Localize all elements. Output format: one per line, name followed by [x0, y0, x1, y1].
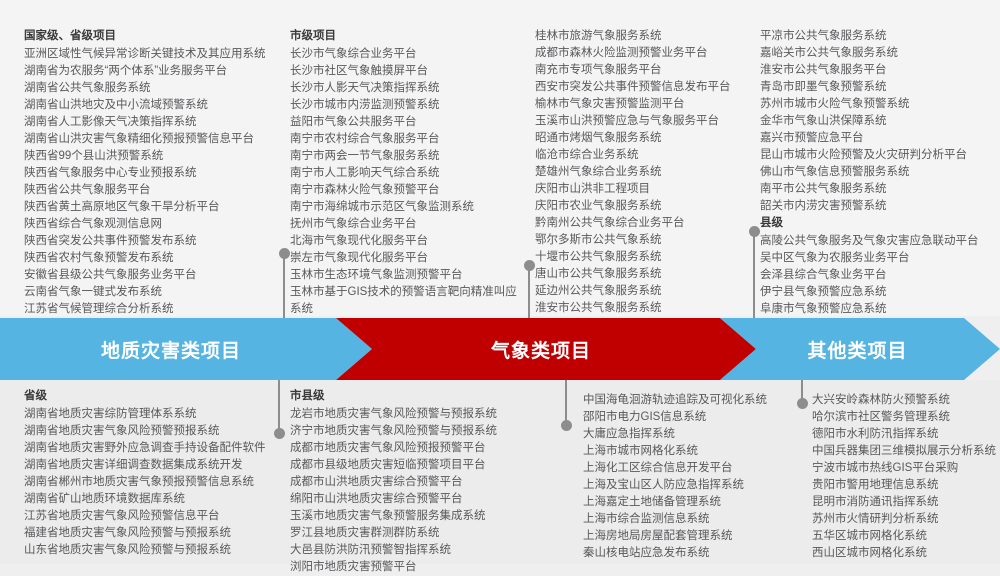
banner-segment-other[interactable]: 其他类项目	[720, 318, 1000, 380]
connector-line-top-4	[753, 230, 755, 318]
list-item: 成都市县级地质灾害短临预警项目平台	[290, 457, 555, 474]
list-item: 长沙市社区气象触摸屏平台	[290, 63, 525, 80]
list-item: 上海化工区综合信息开发平台	[583, 460, 798, 477]
connector-line-top-2	[283, 252, 285, 318]
top-column-2: 市级项目 长沙市气象综合业务平台 长沙市社区气象触摸屏平台 长沙市人影天气决策指…	[290, 28, 525, 335]
list-item: 南宁市两会一节气象服务系统	[290, 148, 525, 165]
list-item: 陕西省气象服务中心专业预报系统	[24, 165, 282, 182]
list-item: 湖南省郴州市地质灾害气象预报预警信息系统	[24, 474, 276, 491]
column-items: 龙岩市地质灾害气象风险预警与预报系统 济宁市地质灾害气象风险预警与预报系统 成都…	[290, 406, 555, 576]
list-item: 淮安市公共气象服务平台	[760, 62, 996, 79]
list-item: 福建省地质灾害气象风险预警与预报系统	[24, 525, 276, 542]
list-item: 平凉市公共气象服务系统	[760, 28, 996, 45]
list-item: 湖南省地质灾害气象风险预警预报系统	[24, 423, 276, 440]
list-item: 南宁市森林火险气象预警平台	[290, 182, 525, 199]
list-item: 五华区城市网格化系统	[812, 528, 998, 545]
category-banner: 地质灾害类项目 气象类项目 其他类项目	[0, 318, 1000, 380]
connector-dot-bottom-3	[797, 398, 808, 409]
column-subitems: 高陵公共气象服务及气象灾害应急联动平台 吴中区气象为农服务业务平台 会泽县综合气…	[760, 233, 996, 318]
list-item: 亚洲区域性气候异常诊断关键技术及其应用系统	[24, 46, 282, 63]
list-item: 庆阳市山洪非工程项目	[535, 181, 750, 198]
top-column-3: 桂林市旅游气象服务系统 成都市森林火险监测预警业务平台 南充市专项气象服务平台 …	[535, 28, 750, 334]
list-item: 阜康市气象预警应急系统	[760, 301, 996, 318]
list-item: 陕西省突发公共事件预警发布系统	[24, 233, 282, 250]
list-item: 佛山市气象信息预警服务系统	[760, 164, 996, 181]
list-item: 大兴安岭森林防火预警系统	[812, 392, 998, 409]
bottom-column-4: 大兴安岭森林防火预警系统 哈尔滨市社区警务管理系统 德阳市水利防汛指挥系统 中国…	[812, 392, 998, 562]
list-item: 上海市城市网格化系统	[583, 443, 798, 460]
column-title: 市县级	[290, 388, 555, 405]
banner-segment-label: 其他类项目	[807, 336, 907, 363]
list-item: 长沙市气象综合业务平台	[290, 46, 525, 63]
bottom-column-3: 中国海龟洄游轨迹追踪及可视化系统 邵阳市电力GIS信息系统 大庸应急指挥系统 上…	[583, 392, 798, 562]
list-item: 贵阳市警用地理信息系统	[812, 477, 998, 494]
list-item: 湖南省矿山地质环境数据库系统	[24, 491, 276, 508]
list-item: 南宁市海绵城市示范区气象监测系统	[290, 199, 525, 216]
list-item: 韶关市内涝灾害预警系统	[760, 198, 996, 215]
connector-dot-top-2	[279, 248, 290, 259]
list-item: 南宁市人工影响天气综合系统	[290, 165, 525, 182]
column-items: 平凉市公共气象服务系统 嘉峪关市公共气象服务系统 淮安市公共气象服务平台 青岛市…	[760, 28, 996, 215]
column-items: 中国海龟洄游轨迹追踪及可视化系统 邵阳市电力GIS信息系统 大庸应急指挥系统 上…	[583, 392, 798, 562]
list-item: 昆明市消防通讯指挥系统	[812, 494, 998, 511]
column-items: 亚洲区域性气候异常诊断关键技术及其应用系统 湖南省为农服务“两个体系”业务服务平…	[24, 46, 282, 335]
top-column-4: 平凉市公共气象服务系统 嘉峪关市公共气象服务系统 淮安市公共气象服务平台 青岛市…	[760, 28, 996, 318]
list-item: 湖南省地质灾害综防管理体系系统	[24, 406, 276, 423]
list-item: 湖南省为农服务“两个体系”业务服务平台	[24, 63, 282, 80]
list-item: 抚州市气象综合业务平台	[290, 216, 525, 233]
list-item: 高陵公共气象服务及气象灾害应急联动平台	[760, 233, 996, 250]
list-item: 山东省地质灾害气象风险预警与预报系统	[24, 542, 276, 559]
list-item: 昭通市烤烟气象服务系统	[535, 130, 750, 147]
list-item: 陕西省综合气象观测信息网	[24, 216, 282, 233]
list-item: 湖南省公共气象服务系统	[24, 80, 282, 97]
list-item: 成都市地质灾害气象风险预报预警平台	[290, 440, 555, 457]
list-item: 江苏省气候管理综合分析系统	[24, 301, 282, 318]
column-title: 国家级、省级项目	[24, 28, 282, 45]
list-item: 楚雄州气象综合业务系统	[535, 164, 750, 181]
list-item: 玉溪市地质灾害气象预警服务集成系统	[290, 508, 555, 525]
banner-segment-label: 气象类项目	[491, 336, 591, 363]
list-item: 中国兵器集团三维模拟展示分析系统	[812, 443, 998, 460]
list-item: 苏州市火情研判分析系统	[812, 511, 998, 528]
list-item: 宁波市城市热线GIS平台采购	[812, 460, 998, 477]
list-item: 长沙市人影天气决策指挥系统	[290, 80, 525, 97]
list-item: 江苏省地质灾害气象风险预警信息平台	[24, 508, 276, 525]
list-item: 成都市森林火险监测预警业务平台	[535, 45, 750, 62]
connector-line-bottom-1	[278, 380, 280, 432]
list-item: 湖南省人工影像天气决策指挥系统	[24, 114, 282, 131]
list-item: 南宁市农村综合气象服务平台	[290, 131, 525, 148]
list-item: 金华市气象山洪保障系统	[760, 113, 996, 130]
bottom-column-1: 省级 湖南省地质灾害综防管理体系系统 湖南省地质灾害气象风险预警预报系统 湖南省…	[24, 388, 276, 559]
list-item: 鄂尔多斯市公共气象系统	[535, 232, 750, 249]
column-title: 市级项目	[290, 28, 525, 45]
connector-line-bottom-2	[565, 380, 567, 424]
list-item: 德阳市水利防汛指挥系统	[812, 426, 998, 443]
connector-dot-top-3	[524, 260, 535, 271]
list-item: 绵阳市山洪地质灾害综合预警平台	[290, 491, 555, 508]
list-item: 南平市公共气象服务系统	[760, 181, 996, 198]
list-item: 湖南省地质灾害详细调查数据集成系统开发	[24, 457, 276, 474]
list-item: 湖南省地质灾害野外应急调查手持设备配件软件	[24, 440, 276, 457]
connector-dot-bottom-2	[561, 420, 572, 431]
top-column-1: 国家级、省级项目 亚洲区域性气候异常诊断关键技术及其应用系统 湖南省为农服务“两…	[24, 28, 282, 335]
list-item: 玉林市基于GIS技术的预警语言靶向精准叫应系统	[290, 284, 525, 318]
list-item: 陕西省公共气象服务平台	[24, 182, 282, 199]
list-item: 长沙市城市内涝监测预警系统	[290, 97, 525, 114]
list-item: 龙岩市地质灾害气象风险预警与预报系统	[290, 406, 555, 423]
list-item: 成都市山洪地质灾害综合预警平台	[290, 474, 555, 491]
list-item: 嘉峪关市公共气象服务系统	[760, 45, 996, 62]
bottom-column-2: 市县级 龙岩市地质灾害气象风险预警与预报系统 济宁市地质灾害气象风险预警与预报系…	[290, 388, 555, 576]
list-item: 黔南州公共气象综合业务平台	[535, 215, 750, 232]
connector-line-top-3	[528, 264, 530, 318]
list-item: 湖南省山洪地灾及中小流域预警系统	[24, 97, 282, 114]
list-item: 苏州市城市火险气象预警系统	[760, 96, 996, 113]
list-item: 青岛市即墨气象预警系统	[760, 79, 996, 96]
list-item: 临沧市综合业务系统	[535, 147, 750, 164]
list-item: 湖南省山洪灾害气象精细化预报预警信息平台	[24, 131, 282, 148]
list-item: 上海房地局房屋配套管理系统	[583, 528, 798, 545]
list-item: 大邑县防洪防汛预警智指挥系统	[290, 542, 555, 559]
infographic-stage: 国家级、省级项目 亚洲区域性气候异常诊断关键技术及其应用系统 湖南省为农服务“两…	[0, 0, 1000, 564]
connector-dot-top-4	[749, 226, 760, 237]
banner-segment-label: 地质灾害类项目	[101, 336, 241, 363]
column-items: 大兴安岭森林防火预警系统 哈尔滨市社区警务管理系统 德阳市水利防汛指挥系统 中国…	[812, 392, 998, 562]
list-item: 上海嘉定土地储备管理系统	[583, 494, 798, 511]
list-item: 陕西省99个县山洪预警系统	[24, 148, 282, 165]
column-items: 长沙市气象综合业务平台 长沙市社区气象触摸屏平台 长沙市人影天气决策指挥系统 长…	[290, 46, 525, 335]
list-item: 嘉兴市预警应急平台	[760, 130, 996, 147]
list-item: 玉林市生态环境气象监测预警平台	[290, 267, 525, 284]
list-item: 伊宁县气象预警应急系统	[760, 284, 996, 301]
list-item: 云南省气象一键式发布系统	[24, 284, 282, 301]
list-item: 桂林市旅游气象服务系统	[535, 28, 750, 45]
list-item: 榆林市气象灾害预警监测平台	[535, 96, 750, 113]
banner-segment-meteorology[interactable]: 气象类项目	[336, 318, 756, 380]
list-item: 北海市气象现代化服务平台	[290, 233, 525, 250]
column-title: 省级	[24, 388, 276, 405]
list-item: 庆阳市农业气象服务系统	[535, 198, 750, 215]
list-item: 上海及宝山区人防应急指挥系统	[583, 477, 798, 494]
column-items: 湖南省地质灾害综防管理体系系统 湖南省地质灾害气象风险预警预报系统 湖南省地质灾…	[24, 406, 276, 559]
list-item: 陕西省黄土高原地区气象干旱分析平台	[24, 199, 282, 216]
list-item: 安徽省县级公共气象服务业务平台	[24, 267, 282, 284]
list-item: 十堰市公共气象服务系统	[535, 249, 750, 266]
list-item: 上海市综合监测信息系统	[583, 511, 798, 528]
list-item: 唐山市公共气象服务系统	[535, 266, 750, 283]
list-item: 崇左市气象现代化服务平台	[290, 250, 525, 267]
list-item: 昆山市城市火险预警及火灾研判分析平台	[760, 147, 996, 164]
list-item: 会泽县综合气象业务平台	[760, 267, 996, 284]
list-item: 邵阳市电力GIS信息系统	[583, 409, 798, 426]
list-item: 西山区城市网格化系统	[812, 545, 998, 562]
column-items: 桂林市旅游气象服务系统 成都市森林火险监测预警业务平台 南充市专项气象服务平台 …	[535, 28, 750, 334]
list-item: 中国海龟洄游轨迹追踪及可视化系统	[583, 392, 798, 409]
column-subtitle: 县级	[760, 215, 996, 232]
list-item: 罗江县地质灾害群测群防系统	[290, 525, 555, 542]
list-item: 西安市突发公共事件预警信息发布平台	[535, 79, 750, 96]
list-item: 济宁市地质灾害气象风险预警与预报系统	[290, 423, 555, 440]
list-item: 吴中区气象为农服务业务平台	[760, 250, 996, 267]
list-item: 秦山核电站应急发布系统	[583, 545, 798, 562]
list-item: 浏阳市地质灾害预警平台	[290, 559, 555, 576]
list-item: 陕西省农村气象预警发布系统	[24, 250, 282, 267]
list-item: 玉溪市山洪预警应急与气象服务平台	[535, 113, 750, 130]
list-item: 南充市专项气象服务平台	[535, 62, 750, 79]
list-item: 大庸应急指挥系统	[583, 426, 798, 443]
list-item: 哈尔滨市社区警务管理系统	[812, 409, 998, 426]
banner-segment-geohazard[interactable]: 地质灾害类项目	[0, 318, 372, 380]
list-item: 淮安市公共气象服务系统	[535, 300, 750, 317]
list-item: 益阳市气象公共服务平台	[290, 114, 525, 131]
list-item: 延边州公共气象服务系统	[535, 283, 750, 300]
